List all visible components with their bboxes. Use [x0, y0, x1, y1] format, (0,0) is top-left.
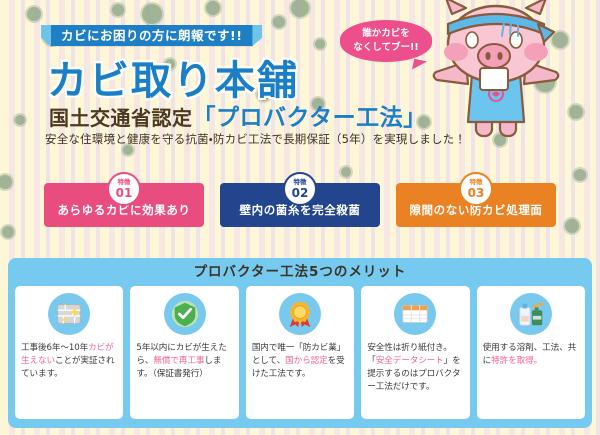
- feature-number: 02: [292, 187, 309, 199]
- mold-spot: [142, 4, 162, 24]
- feature-number: 03: [468, 187, 485, 199]
- feature-badge-02[interactable]: 特徴02壁内の菌糸を完全殺菌: [220, 183, 380, 227]
- data-sheet-icon: [394, 293, 436, 335]
- merit-text-highlight: 無償で再工事: [153, 356, 204, 366]
- merit-card[interactable]: 工事後6年～10年カビが生えないことが実証されています。: [15, 286, 123, 419]
- merit-text: 安全性は折り紙付き。「安全データシート」を提示するのはプロバクター工法だけです。: [367, 342, 463, 394]
- mold-spot: [27, 7, 41, 21]
- mold-spot: [206, 1, 220, 15]
- mold-spot: [291, 0, 309, 17]
- merit-text: 工事後6年～10年カビが生えないことが実証されています。: [21, 342, 117, 381]
- merit-card[interactable]: 安全性は折り紙付き。「安全データシート」を提示するのはプロバクター工法だけです。: [361, 286, 469, 419]
- feature-badge-03[interactable]: 特徴03隙間のない防カビ処理面: [396, 183, 556, 227]
- landing-page: カビにお困りの方に朗報です!! カビ取り本舗 国土交通省認定「プロバクター工法」…: [0, 0, 600, 435]
- mascot-speech-bubble: 誰かカビを なくしてブー!!: [340, 20, 432, 62]
- merit-text: 5年以内にカビが生えたら、無償で再工事します。（保証書発行）: [136, 342, 232, 381]
- brick-wall-sparkle-icon: [48, 293, 90, 335]
- bubble-line-2: なくしてブー!!: [353, 41, 418, 55]
- feature-number-circle: 特徴03: [459, 172, 493, 206]
- merit-card[interactable]: 国内で唯一「防カビ業」として、国から認定を受けた工法です。: [246, 286, 354, 419]
- mold-spot: [315, 39, 325, 49]
- feature-number-circle: 特徴02: [283, 172, 317, 206]
- feature-badge-list: 特徴01あらゆるカビに効果あり特徴02壁内の菌糸を完全殺菌特徴03隙間のない防カ…: [0, 172, 600, 227]
- feature-kicker: 特徴: [118, 179, 131, 186]
- merit-card-list: 工事後6年～10年カビが生えないことが実証されています。5年以内にカビが生えたら…: [8, 286, 592, 419]
- shield-check-icon: [164, 293, 206, 335]
- feature-kicker: 特徴: [470, 179, 483, 186]
- feature-number: 01: [116, 187, 133, 199]
- sub-title-method: 「プロバクター工法」: [193, 105, 427, 131]
- mold-spot: [273, 16, 285, 28]
- award-medal-icon: [279, 293, 321, 335]
- pig-mascot: [432, 0, 560, 156]
- merit-text-highlight: 特許を取得。: [491, 356, 542, 366]
- merit-card[interactable]: 5年以内にカビが生えたら、無償で再工事します。（保証書発行）: [130, 286, 238, 419]
- merit-text: 使用する溶剤、工法、共に特許を取得。: [483, 342, 579, 368]
- cleaning-bottles-icon: [510, 293, 552, 335]
- feature-kicker: 特徴: [294, 179, 307, 186]
- announcement-ribbon: カビにお困りの方に朗報です!!: [50, 25, 253, 46]
- mold-spot: [569, 105, 583, 119]
- sub-title: 国土交通省認定「プロバクター工法」: [49, 98, 427, 132]
- sub-title-certification: 国土交通省認定: [49, 106, 193, 130]
- bubble-line-1: 誰かカビを: [362, 27, 410, 41]
- merits-heading: プロバクター工法5つのメリット: [8, 258, 592, 286]
- pig-mascot-icon: [432, 0, 560, 156]
- merits-panel: プロバクター工法5つのメリット 工事後6年～10年カビが生えないことが実証されて…: [8, 258, 592, 428]
- announcement-ribbon-label: カビにお困りの方に朗報です!!: [50, 25, 253, 46]
- mold-spot: [112, 4, 124, 16]
- feature-number-circle: 特徴01: [107, 172, 141, 206]
- merit-text: 国内で唯一「防カビ業」として、国から認定を受けた工法です。: [252, 342, 348, 381]
- merit-card[interactable]: 使用する溶剤、工法、共に特許を取得。: [477, 286, 585, 419]
- merit-text-highlight: 安全データシート: [376, 356, 444, 366]
- mold-spot: [2, 226, 14, 238]
- merit-text-highlight: 国から認定: [285, 356, 327, 366]
- merit-text-plain: 工事後6年～10年: [21, 343, 88, 353]
- feature-badge-01[interactable]: 特徴01あらゆるカビに効果あり: [44, 183, 204, 227]
- mold-spot: [15, 115, 25, 125]
- lead-text: 安全な住環境と健康を守る抗菌・防カビ工法で長期保証（5年）を実現しました！: [45, 131, 466, 147]
